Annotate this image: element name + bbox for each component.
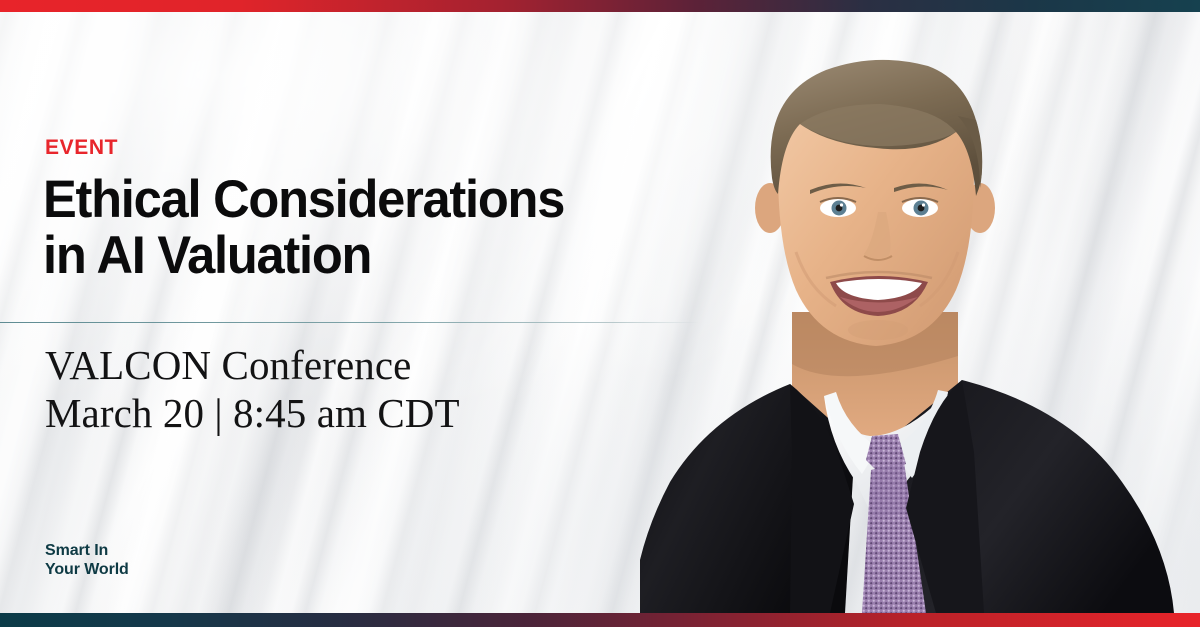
event-headline: Ethical Considerations in AI Valuation — [43, 172, 564, 284]
event-banner: EVENT Ethical Considerations in AI Valua… — [0, 0, 1200, 627]
top-accent-bar — [0, 0, 1200, 12]
bottom-accent-bar — [0, 613, 1200, 627]
event-eyebrow-label: EVENT — [45, 136, 118, 160]
speaker-portrait-photo — [640, 12, 1200, 613]
text-content: EVENT Ethical Considerations in AI Valua… — [0, 0, 700, 627]
event-subtitle: VALCON Conference March 20 | 8:45 am CDT — [45, 341, 460, 437]
brand-tagline: Smart In Your World — [45, 541, 129, 579]
portrait-illustration — [640, 12, 1200, 613]
